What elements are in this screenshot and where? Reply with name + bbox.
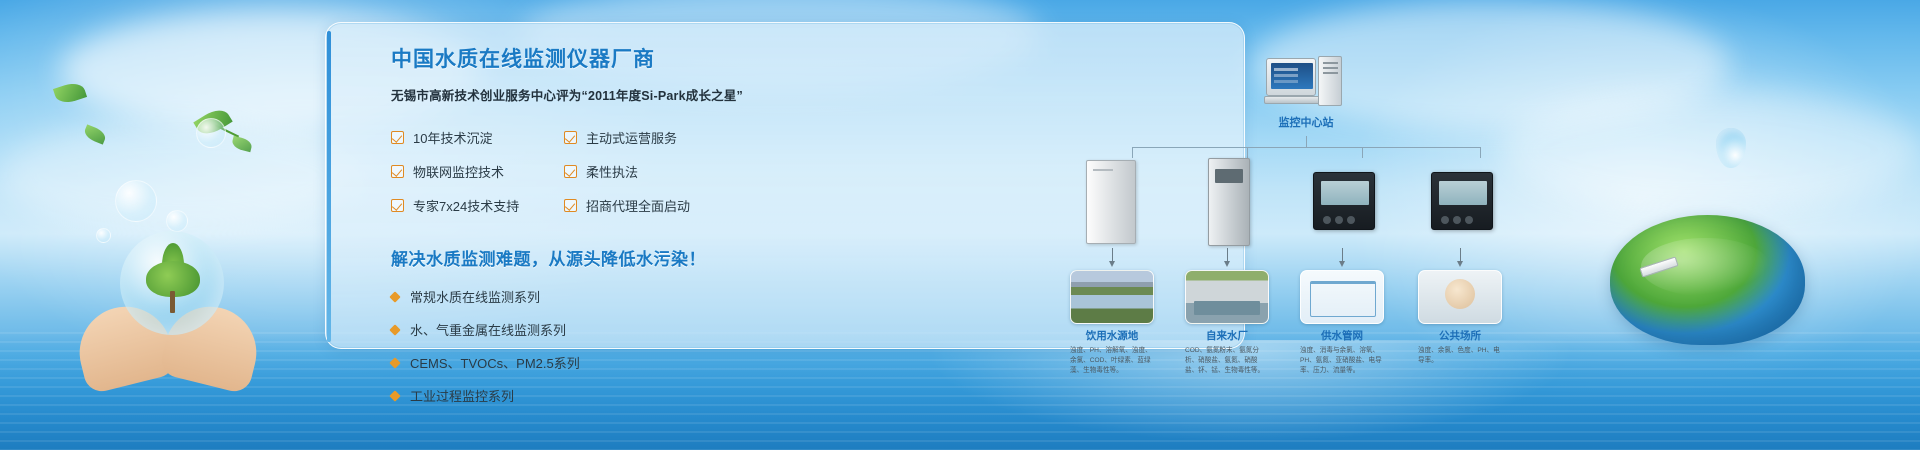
page-title: 中国水质在线监测仪器厂商 <box>391 43 791 73</box>
hands-holding-tree-illustration <box>78 225 268 385</box>
feature-label: 招商代理全面启动 <box>586 196 690 215</box>
page-subtitle: 无锡市高新技术创业服务中心评为“2011年度Si-Park成长之星” <box>391 85 791 104</box>
feature-item: 柔性执法 <box>564 162 791 181</box>
diamond-bullet-icon <box>389 324 400 335</box>
scenario-thumbnail-faucet <box>1418 270 1502 324</box>
scenario-title: 供水管网 <box>1300 328 1384 343</box>
diamond-bullet-icon <box>389 291 400 302</box>
flow-arrow-row <box>1086 248 1526 270</box>
list-item: 常规水质在线监测系列 <box>391 287 791 306</box>
down-arrow-icon <box>1227 248 1228 262</box>
controller-buttons <box>1323 211 1367 221</box>
connector-bar <box>1132 147 1480 148</box>
controller-display <box>1439 181 1487 205</box>
device-rack-analyzer <box>1196 156 1262 248</box>
tree-trunk <box>170 291 175 313</box>
pc-tower-icon <box>1318 56 1342 106</box>
checkbox-checked-icon <box>564 131 577 144</box>
checkbox-checked-icon <box>391 199 404 212</box>
feature-label: 专家7x24技术支持 <box>413 196 519 215</box>
feature-item: 专家7x24技术支持 <box>391 196 556 215</box>
list-item: CEMS、TVOCs、PM2.5系列 <box>391 353 791 372</box>
checkbox-checked-icon <box>564 199 577 212</box>
section-heading: 解决水质监测难题，从源头降低水污染！ <box>391 245 791 270</box>
diamond-bullet-icon <box>389 357 400 368</box>
controller-body <box>1313 172 1375 230</box>
scenario-description: 浊度、PH、溶解氧、浊度、余氯、COD、叶绿素、蓝绿藻、生物毒性等。 <box>1070 346 1154 377</box>
scenario-title: 饮用水源地 <box>1070 328 1154 343</box>
scenario-card-water-network[interactable]: 供水管网 浊度、消毒与余氯、溶氧、PH、氨氮、亚硝酸盐、电导率、压力、流量等。 <box>1300 270 1384 377</box>
down-arrow-icon <box>1112 248 1113 262</box>
series-label: CEMS、TVOCs、PM2.5系列 <box>410 353 580 372</box>
feature-item: 10年技术沉淀 <box>391 128 556 147</box>
feature-label: 10年技术沉淀 <box>413 128 492 147</box>
feature-label: 主动式运营服务 <box>586 128 677 147</box>
controller-display <box>1321 181 1369 205</box>
device-controller-narrow <box>1429 156 1495 248</box>
feature-item: 物联网监控技术 <box>391 162 556 181</box>
monitor-icon <box>1266 58 1316 96</box>
scenario-description: 浊度、消毒与余氯、溶氧、PH、氨氮、亚硝酸盐、电导率、压力、流量等。 <box>1300 346 1384 377</box>
scenario-title: 自来水厂 <box>1185 328 1269 343</box>
feature-item: 招商代理全面启动 <box>564 196 791 215</box>
scenario-card-drinking-water-source[interactable]: 饮用水源地 浊度、PH、溶解氧、浊度、余氯、COD、叶绿素、蓝绿藻、生物毒性等。 <box>1070 270 1154 377</box>
topology-connector-lines <box>1106 136 1506 158</box>
monitoring-topology-diagram: 监控中心站 <box>1086 48 1526 368</box>
product-series-list: 常规水质在线监测系列 水、气重金属在线监测系列 CEMS、TVOCs、PM2.5… <box>391 287 791 405</box>
bubble-decoration <box>115 180 157 222</box>
diamond-bullet-icon <box>389 390 400 401</box>
checkbox-checked-icon <box>391 165 404 178</box>
scenario-thumbnail-river <box>1070 270 1154 324</box>
scenario-thumbnail-pipeline <box>1300 270 1384 324</box>
connector-trunk <box>1306 136 1307 147</box>
device-row <box>1086 156 1526 256</box>
scenario-title: 公共场所 <box>1418 328 1502 343</box>
scenario-thumbnail-plant <box>1185 270 1269 324</box>
control-center-computer-icon <box>1266 56 1346 108</box>
series-label: 常规水质在线监测系列 <box>410 287 540 306</box>
feature-label: 柔性执法 <box>586 162 638 181</box>
down-arrow-icon <box>1460 248 1461 262</box>
device-controller-wide <box>1311 156 1377 248</box>
feature-item: 主动式运营服务 <box>564 128 791 147</box>
controller-buttons <box>1441 211 1485 221</box>
checkbox-checked-icon <box>391 131 404 144</box>
scenario-card-row: 饮用水源地 浊度、PH、溶解氧、浊度、余氯、COD、叶绿素、蓝绿藻、生物毒性等。… <box>1086 270 1526 370</box>
down-arrow-icon <box>1342 248 1343 262</box>
scenario-description: 浊度、余氯、色度、PH、电导率。 <box>1418 346 1502 366</box>
scenario-card-water-plant[interactable]: 自来水厂 COD、氨氮粉末、氨氮分析、硝酸盐、氨氮、硝酸盐、钚、锰、生物毒性等。 <box>1185 270 1269 377</box>
cloud-decoration <box>1500 90 1920 210</box>
control-center-label: 监控中心站 <box>1236 114 1376 130</box>
keyboard-icon <box>1264 96 1320 104</box>
controller-body <box>1431 172 1493 230</box>
monitor-screen <box>1271 63 1313 89</box>
hero-panel: 中国水质在线监测仪器厂商 无锡市高新技术创业服务中心评为“2011年度Si-Pa… <box>325 22 1245 349</box>
series-label: 工业过程监控系列 <box>410 386 514 405</box>
cabinet-body <box>1086 160 1136 244</box>
scenario-card-public-place[interactable]: 公共场所 浊度、余氯、色度、PH、电导率。 <box>1418 270 1502 366</box>
series-label: 水、气重金属在线监测系列 <box>410 320 566 339</box>
list-item: 工业过程监控系列 <box>391 386 791 405</box>
hero-text-column: 中国水质在线监测仪器厂商 无锡市高新技术创业服务中心评为“2011年度Si-Pa… <box>391 43 791 419</box>
scenario-description: COD、氨氮粉末、氨氮分析、硝酸盐、氨氮、硝酸盐、钚、锰、生物毒性等。 <box>1185 346 1269 377</box>
device-cabinet-analyzer <box>1078 156 1144 248</box>
checkbox-checked-icon <box>564 165 577 178</box>
bubble-decoration <box>196 118 226 148</box>
list-item: 水、气重金属在线监测系列 <box>391 320 791 339</box>
green-earth-illustration <box>1610 215 1805 345</box>
rack-body <box>1208 158 1250 246</box>
panel-accent-bar <box>327 31 331 342</box>
feature-label: 物联网监控技术 <box>413 162 504 181</box>
feature-checklist: 10年技术沉淀 主动式运营服务 物联网监控技术 柔性执法 专家7x24技术支持 … <box>391 128 791 215</box>
